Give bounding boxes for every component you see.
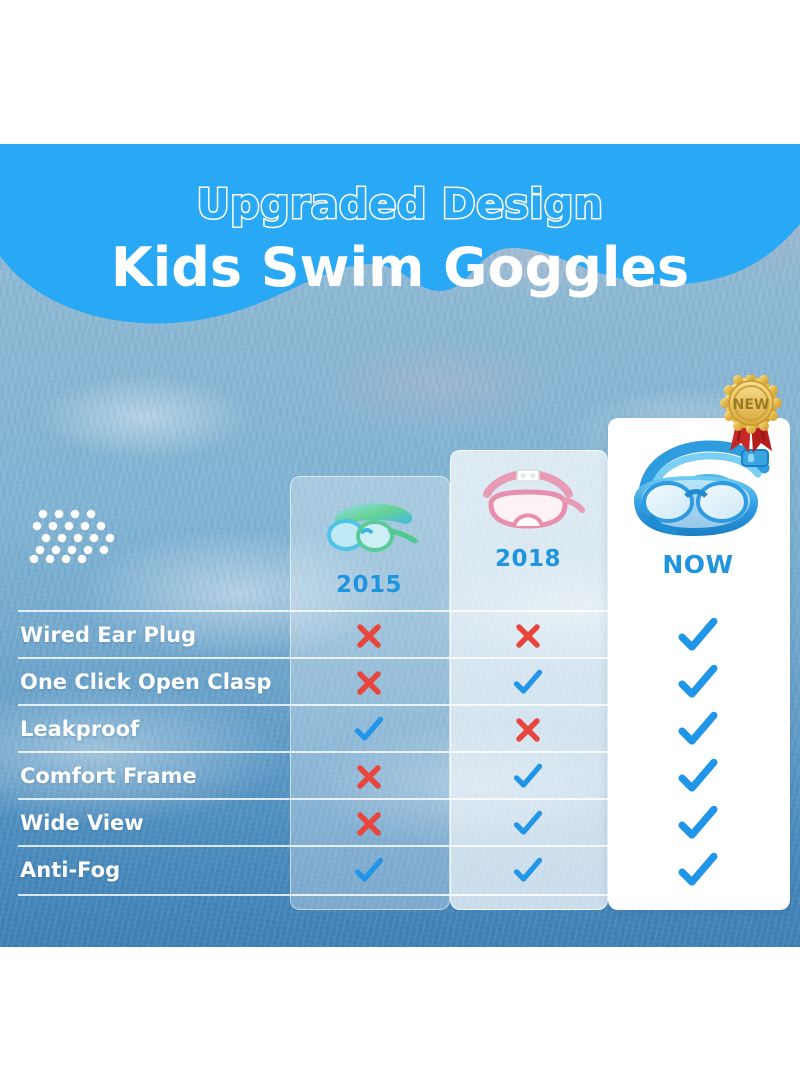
check-icon <box>677 664 718 701</box>
footer-whitespace <box>0 947 800 1091</box>
feature-label: One Click Open Clasp <box>20 659 272 706</box>
cell-2018-anti-fog <box>450 847 606 894</box>
feature-label: Leakproof <box>20 706 139 753</box>
feature-label: Anti-Fog <box>20 847 120 894</box>
cross-icon <box>354 809 384 839</box>
check-icon <box>513 856 543 886</box>
badge-label: NEW <box>733 397 770 413</box>
cross-icon <box>354 621 384 651</box>
cross-icon <box>354 668 384 698</box>
check-icon <box>513 809 543 839</box>
check-icon <box>677 852 718 889</box>
check-icon <box>677 711 718 748</box>
cell-2018-leakproof <box>450 706 606 753</box>
check-icon <box>513 668 543 698</box>
cell-2018-wired-ear-plug <box>450 612 606 659</box>
check-icon <box>354 715 384 745</box>
cell-2015-wired-ear-plug <box>290 612 448 659</box>
check-icon <box>677 758 718 795</box>
cell-2018-comfort-frame <box>450 753 606 800</box>
cross-icon <box>513 621 543 651</box>
table-row: Comfort Frame <box>18 751 788 800</box>
cell-now-comfort-frame <box>608 753 788 800</box>
cell-2015-one-click-open-clasp <box>290 659 448 706</box>
feature-rows: Wired Ear Plug One Click Open Clasp <box>0 144 800 947</box>
cell-now-one-click-open-clasp <box>608 659 788 706</box>
cross-icon <box>354 762 384 792</box>
cell-now-leakproof <box>608 706 788 753</box>
check-icon <box>677 617 718 654</box>
cell-2015-wide-view <box>290 800 448 847</box>
product-comparison-poster: Upgraded Design Kids Swim Goggles <box>0 144 800 947</box>
feature-label: Wired Ear Plug <box>20 612 196 659</box>
check-icon <box>354 856 384 886</box>
cell-2015-comfort-frame <box>290 753 448 800</box>
feature-label: Wide View <box>20 800 144 847</box>
check-icon <box>513 762 543 792</box>
cell-2018-one-click-open-clasp <box>450 659 606 706</box>
table-row: Wired Ear Plug <box>18 610 788 659</box>
table-row: Leakproof <box>18 704 788 753</box>
table-row: One Click Open Clasp <box>18 657 788 706</box>
cell-2015-anti-fog <box>290 847 448 894</box>
cell-now-anti-fog <box>608 847 788 894</box>
check-icon <box>677 805 718 842</box>
cell-2015-leakproof <box>290 706 448 753</box>
cell-now-wired-ear-plug <box>608 612 788 659</box>
table-row: Wide View <box>18 798 788 847</box>
award-medal-icon: NEW <box>718 375 784 455</box>
cell-now-wide-view <box>608 800 788 847</box>
feature-label: Comfort Frame <box>20 753 197 800</box>
table-row: Anti-Fog <box>18 845 788 896</box>
cell-2018-wide-view <box>450 800 606 847</box>
cross-icon <box>513 715 543 745</box>
